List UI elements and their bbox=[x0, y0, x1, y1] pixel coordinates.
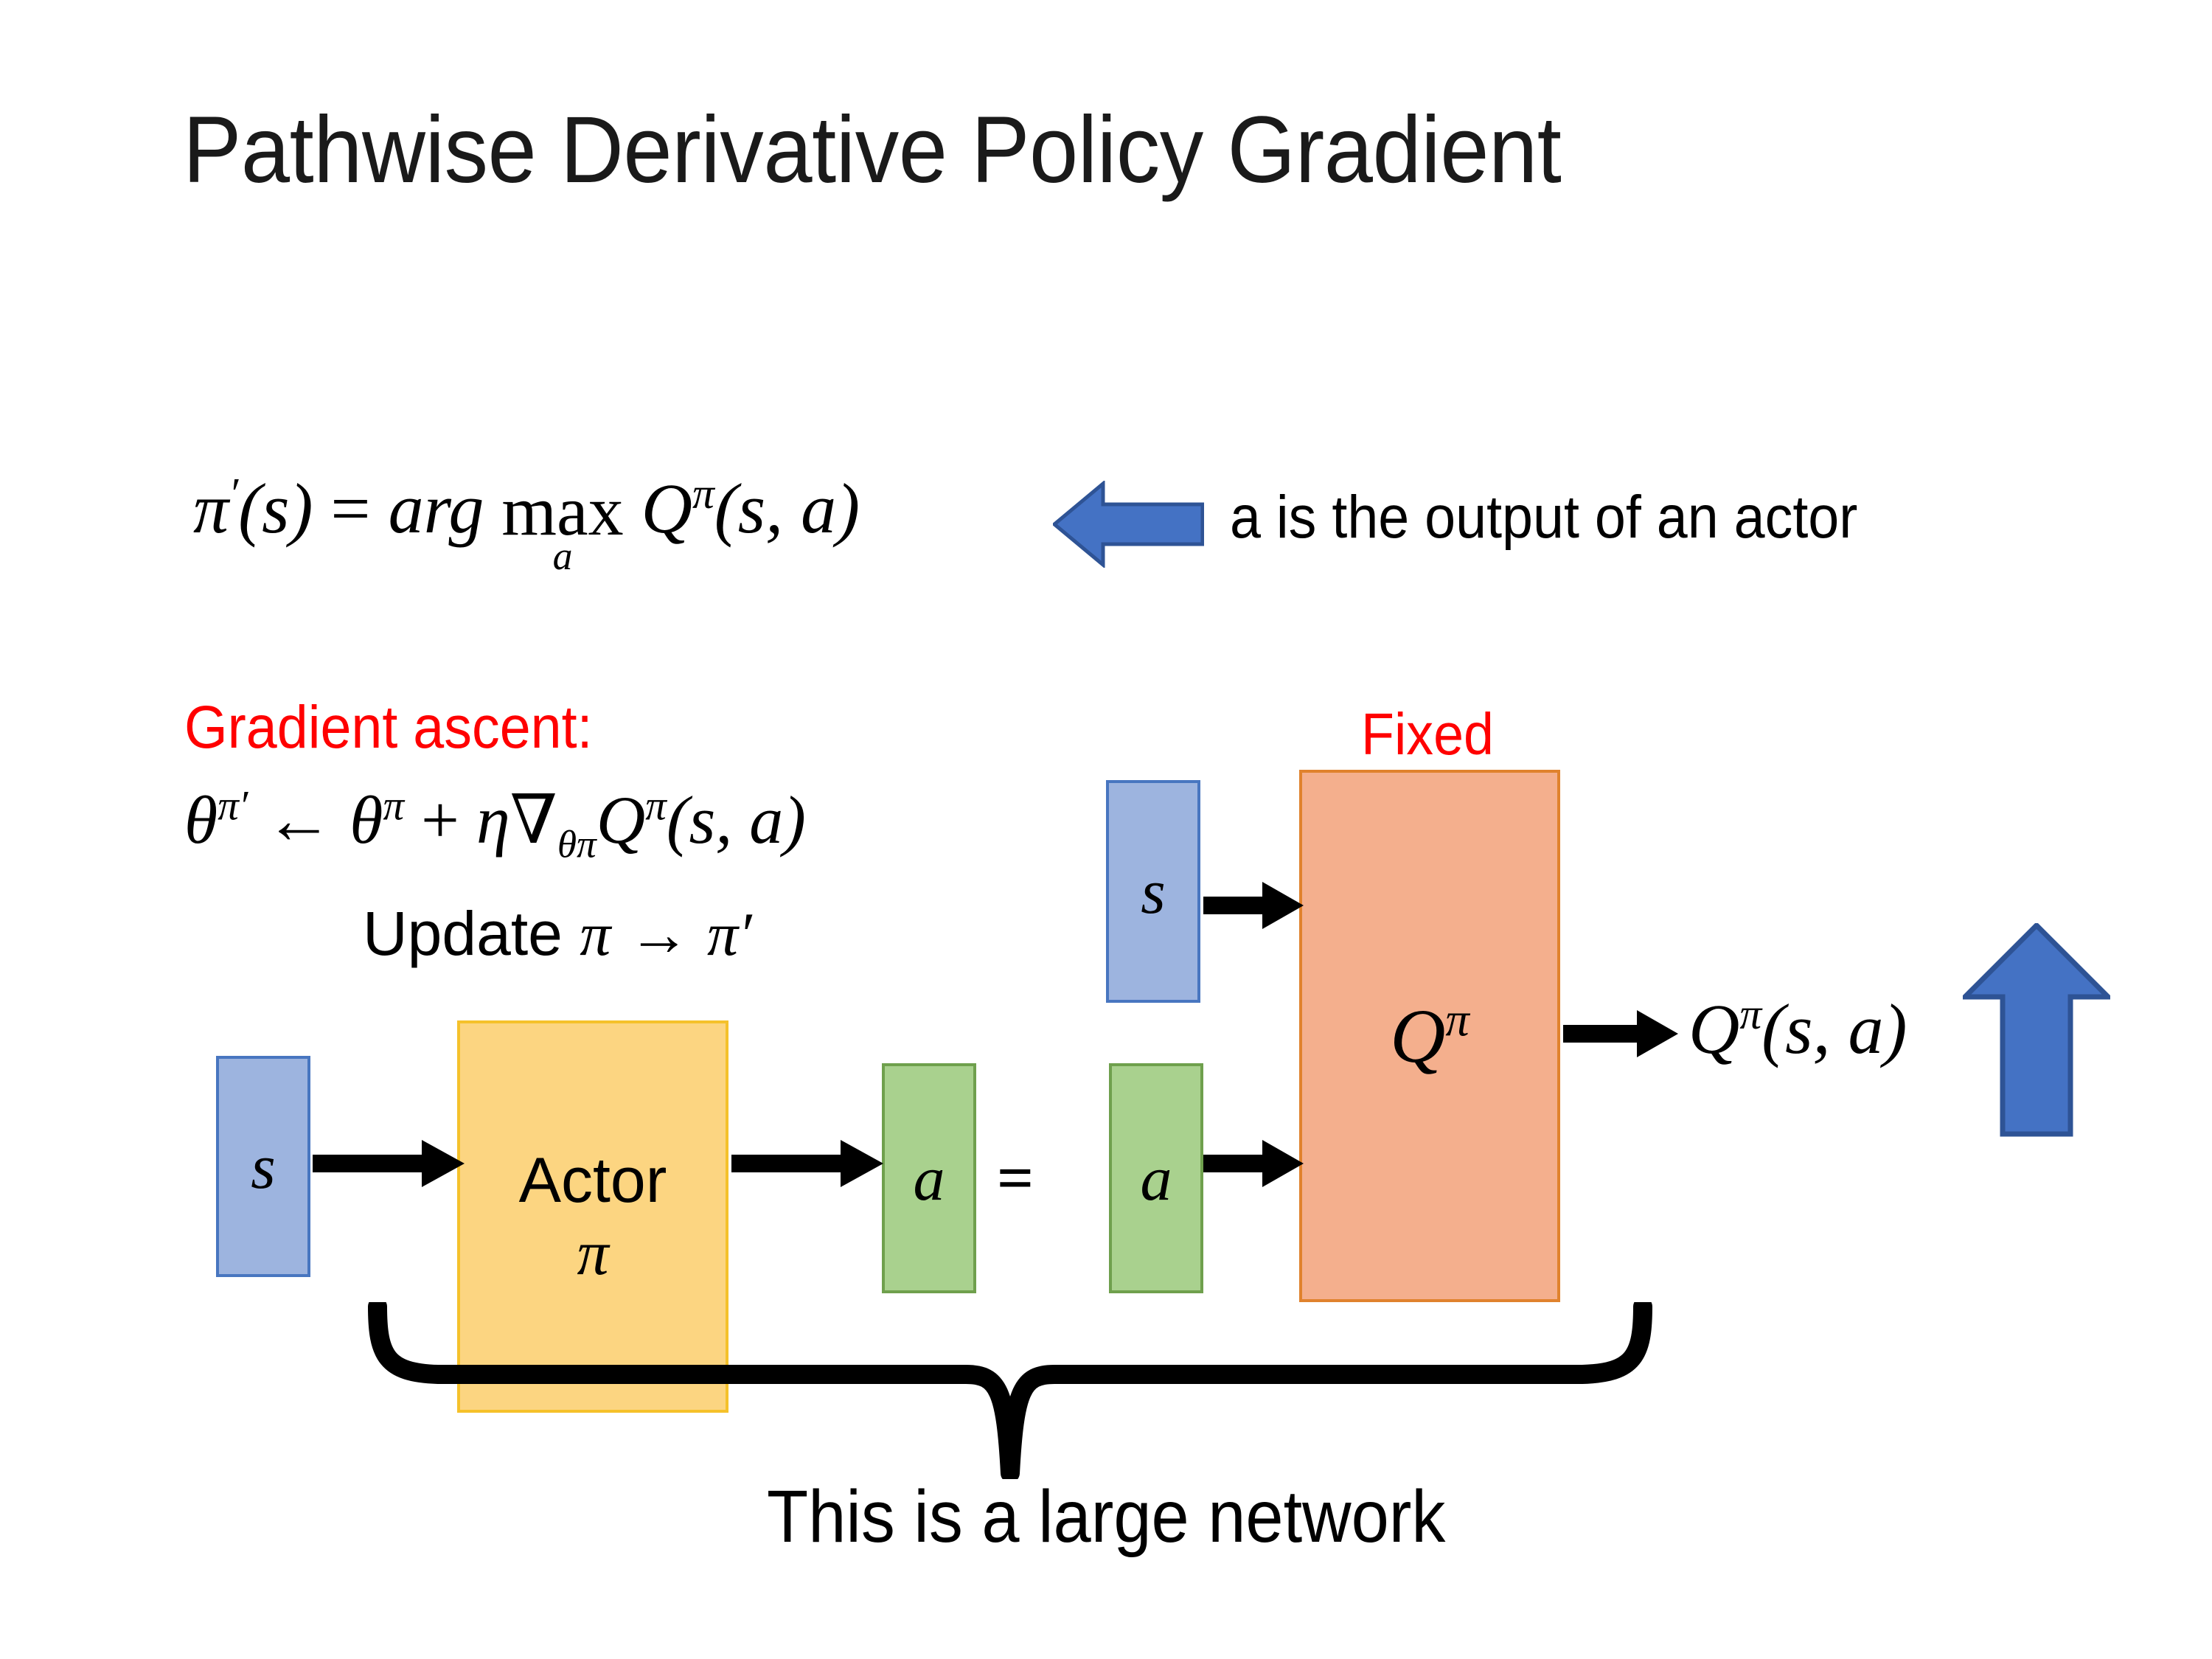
state-box-left: s bbox=[216, 1056, 310, 1277]
output-Q-args: (s, a) bbox=[1761, 990, 1907, 1068]
action-box-left: a bbox=[882, 1063, 976, 1293]
actor-box-label: Actor bbox=[519, 1147, 667, 1214]
formula-equals: = bbox=[330, 469, 370, 548]
nabla-icon: ∇ bbox=[510, 782, 557, 858]
formula-max-subscript: a bbox=[553, 538, 573, 574]
formula-Q-superscript: π bbox=[692, 469, 714, 518]
grad-Q: Q bbox=[597, 782, 645, 858]
formula-open-paren: ( bbox=[238, 469, 262, 548]
action-box-left-label: a bbox=[914, 1141, 945, 1215]
state-box-top-label: s bbox=[1141, 855, 1165, 928]
theta-new: θ bbox=[184, 782, 218, 858]
formula-Q-args: (s, a) bbox=[714, 469, 860, 548]
critic-box-label: Qπ bbox=[1390, 992, 1469, 1080]
grad-Q-superscript: π bbox=[645, 782, 667, 829]
state-box-left-label: s bbox=[251, 1130, 275, 1203]
page-title: Pathwise Derivative Policy Gradient bbox=[183, 88, 1623, 213]
state-box-top: s bbox=[1106, 780, 1200, 1003]
critic-output-label: Qπ(s, a) bbox=[1688, 988, 1907, 1070]
update-note-arrow: → bbox=[628, 899, 690, 968]
action-box-right: a bbox=[1109, 1063, 1203, 1293]
plus-sign: + bbox=[421, 782, 459, 858]
formula-prime: ′ bbox=[229, 469, 238, 518]
formula-pi: π bbox=[193, 469, 229, 548]
output-Q: Q bbox=[1688, 990, 1739, 1068]
nabla-subscript: θπ bbox=[557, 821, 597, 866]
grad-Q-args: (s, a) bbox=[667, 782, 806, 858]
actor-output-note: a is the output of an actor bbox=[1230, 483, 1857, 552]
update-note: Update π → π′ bbox=[363, 898, 751, 970]
equality-sign: = bbox=[997, 1141, 1034, 1216]
actor-box-pi-label: π bbox=[577, 1220, 608, 1286]
grouping-brace bbox=[367, 1302, 1665, 1479]
update-note-pi: π bbox=[580, 900, 611, 969]
critic-box-Q: Q bbox=[1390, 994, 1445, 1079]
formula-argmax: max a bbox=[501, 479, 623, 574]
arrow-actor-to-action bbox=[731, 1134, 886, 1193]
formula-arg: arg bbox=[389, 469, 484, 548]
network-caption: This is a large network bbox=[0, 1475, 2212, 1559]
policy-formula: π′(s) = arg max a Qπ(s, a) bbox=[193, 467, 860, 563]
assign-arrow: ← bbox=[265, 782, 333, 858]
theta-old-superscript: π bbox=[383, 782, 404, 829]
gradient-ascent-label: Gradient ascent: bbox=[184, 693, 593, 762]
formula-max: max bbox=[501, 479, 623, 543]
formula-Q: Q bbox=[641, 469, 692, 548]
fixed-label: Fixed bbox=[1361, 700, 1494, 768]
theta-new-superscript: π′ bbox=[218, 782, 248, 829]
critic-network-box: Qπ bbox=[1299, 770, 1560, 1302]
critic-box-superscript: π bbox=[1445, 993, 1469, 1046]
formula-state: s bbox=[262, 469, 289, 548]
left-callout-arrow bbox=[1053, 481, 1204, 568]
arrow-action-to-critic bbox=[1203, 1134, 1307, 1193]
arrow-state-to-actor bbox=[313, 1134, 467, 1193]
action-box-right-label: a bbox=[1141, 1141, 1172, 1215]
eta: η bbox=[476, 782, 510, 858]
arrow-state-to-critic bbox=[1203, 876, 1307, 935]
formula-close-paren: ) bbox=[289, 469, 313, 548]
output-Q-superscript: π bbox=[1739, 990, 1761, 1038]
network-caption-text: This is a large network bbox=[767, 1475, 1445, 1559]
update-note-prefix: Update bbox=[363, 899, 580, 968]
theta-old: θ bbox=[349, 782, 383, 858]
up-callout-arrow bbox=[1963, 923, 2110, 1137]
gradient-ascent-formula: θπ′ ← θπ + η∇θπQπ(s, a) bbox=[184, 780, 806, 866]
arrow-critic-to-output bbox=[1563, 1004, 1681, 1063]
update-note-pi-prime: π′ bbox=[707, 900, 751, 969]
